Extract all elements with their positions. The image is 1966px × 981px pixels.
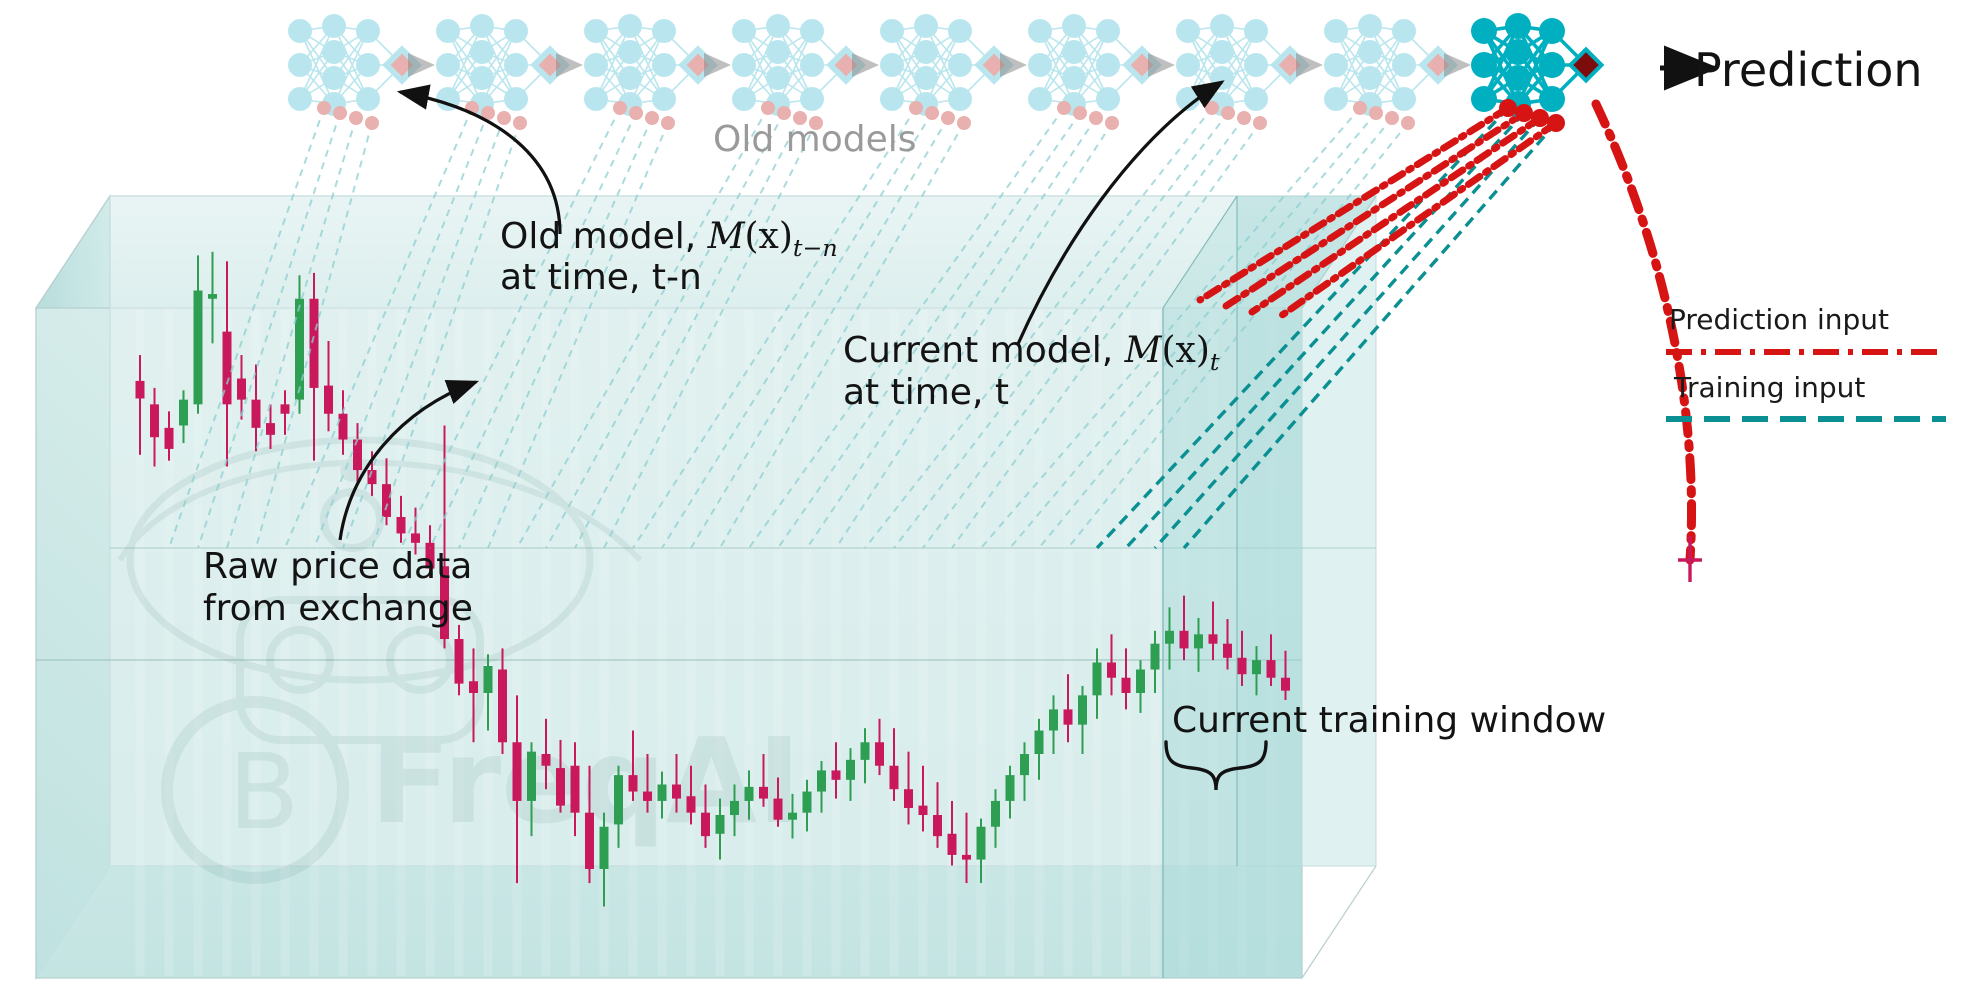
candle-body [643, 792, 652, 801]
old-model-math-x: (x) [745, 216, 793, 257]
candle-body [890, 766, 899, 789]
candle-body [1020, 754, 1029, 775]
current-model-math-sub: t [1210, 348, 1220, 376]
network-node [436, 19, 460, 43]
candle-body [1194, 634, 1203, 648]
candle-body [339, 414, 348, 440]
current-model-annotation-line2: at time, t [843, 372, 1009, 413]
candle-body [701, 813, 710, 836]
candle-body [165, 428, 174, 449]
network-node [1210, 40, 1234, 64]
diagram-canvas: B FreqAI [0, 0, 1966, 981]
candle-body [585, 813, 594, 869]
candle-body [846, 760, 855, 780]
network-node [618, 66, 642, 90]
candle-body [658, 785, 667, 801]
candle-body [745, 787, 754, 801]
candle-body [861, 742, 870, 760]
network-input-node [1205, 101, 1219, 115]
candle-body [1107, 662, 1116, 677]
candle-body [194, 291, 203, 405]
network-node [880, 19, 904, 43]
network-node [1028, 87, 1052, 111]
candle-body [1136, 670, 1145, 693]
old-models-label: Old models [713, 119, 916, 160]
candle-body [310, 299, 319, 388]
raw-price-annotation-line2: from exchange [203, 588, 473, 629]
candle-body [991, 801, 1000, 827]
network-node [1358, 40, 1382, 64]
network-node [1471, 52, 1497, 78]
model-network-old [1028, 14, 1172, 130]
model-network-old [288, 14, 432, 130]
old-model-math-sub: t−n [793, 234, 838, 262]
network-node [322, 14, 346, 38]
network-node [436, 53, 460, 77]
candle-body [875, 742, 884, 765]
candle-body [1122, 678, 1131, 693]
network-node [1505, 13, 1531, 39]
model-network-old [1176, 14, 1320, 130]
candle-body [1180, 631, 1189, 649]
candle-body [1281, 678, 1290, 691]
network-input-node [513, 116, 527, 130]
network-node [1176, 53, 1200, 77]
network-node [1471, 18, 1497, 44]
candle-body [1049, 709, 1058, 730]
candle-body [498, 670, 507, 743]
network-input-node [1221, 106, 1235, 120]
network-node [1471, 86, 1497, 112]
legend-label-prediction-input: Prediction input [1669, 303, 1889, 336]
model-network-old [584, 14, 728, 130]
network-node [800, 53, 824, 77]
candle-body [1078, 695, 1087, 724]
candle-body [1006, 775, 1015, 801]
network-input-node [761, 101, 775, 115]
candle-body [542, 754, 551, 766]
network-input-node [349, 111, 363, 125]
network-node [1244, 87, 1268, 111]
network-node [880, 87, 904, 111]
candle-body [600, 827, 609, 869]
network-node [914, 40, 938, 64]
network-node [1244, 53, 1268, 77]
candle-body [1238, 658, 1247, 674]
network-node [732, 87, 756, 111]
network-input-node [1499, 99, 1517, 117]
network-node [584, 87, 608, 111]
network-input-node [661, 116, 675, 130]
network-node [618, 14, 642, 38]
candle-body [150, 404, 159, 437]
raw-price-annotation-line1: Raw price data [203, 546, 472, 587]
network-node [914, 66, 938, 90]
candle-body [832, 770, 841, 779]
network-input-node [957, 116, 971, 130]
network-node [584, 53, 608, 77]
candle-body [687, 796, 696, 812]
candle-body [817, 770, 826, 791]
network-node [470, 40, 494, 64]
candle-body [266, 423, 275, 435]
network-node [1028, 53, 1052, 77]
network-node [800, 19, 824, 43]
network-input-node [629, 106, 643, 120]
candle-body [136, 381, 145, 399]
box-edge-right-bottom [1302, 866, 1376, 978]
network-node [1505, 39, 1531, 65]
model-network-old [880, 14, 1024, 130]
candle-body [208, 294, 217, 299]
network-node [1096, 19, 1120, 43]
candle-body [237, 379, 246, 400]
network-node [766, 40, 790, 64]
candle-body [252, 400, 261, 428]
network-input-node [1547, 114, 1565, 132]
network-input-node [1531, 109, 1549, 127]
model-network-old [732, 14, 876, 130]
current-model-text: Current model, [843, 330, 1125, 371]
candle-body [1151, 644, 1160, 670]
candle-body [977, 827, 986, 860]
network-node [1392, 53, 1416, 77]
candle-body [1267, 660, 1276, 678]
network-node [1539, 52, 1565, 78]
network-input-node [941, 111, 955, 125]
candle-body [1093, 662, 1102, 695]
network-input-node [317, 101, 331, 115]
candle-body [571, 766, 580, 813]
network-node [1062, 66, 1086, 90]
network-input-node [1105, 116, 1119, 130]
network-node [652, 53, 676, 77]
network-node [470, 66, 494, 90]
network-node [356, 53, 380, 77]
network-input-node [613, 101, 627, 115]
training-window-highlight [1163, 196, 1376, 978]
network-node [1392, 87, 1416, 111]
network-node [1096, 53, 1120, 77]
candle-body [411, 533, 420, 542]
training-window-label: Current training window [1172, 700, 1606, 741]
network-node [1176, 19, 1200, 43]
candle-body [788, 813, 797, 820]
network-input-node [1057, 101, 1071, 115]
network-input-node [333, 106, 347, 120]
network-input-node [645, 111, 659, 125]
old-model-annotation-line2: at time, t-n [500, 257, 702, 298]
network-input-node [1237, 111, 1251, 125]
candle-body [1209, 634, 1218, 643]
svg-text:B: B [228, 731, 299, 853]
candle-body [716, 815, 725, 834]
network-node [584, 19, 608, 43]
model-network-row [288, 13, 1602, 132]
network-node [1358, 66, 1382, 90]
network-node [1062, 40, 1086, 64]
network-node [1324, 87, 1348, 111]
candle-body [774, 799, 783, 820]
candle-body [962, 855, 971, 860]
network-node [1324, 19, 1348, 43]
network-node [732, 53, 756, 77]
candle-body [948, 834, 957, 855]
current-model-annotation-line1: Current model, M(x)t [843, 330, 1219, 376]
prediction-label: Prediction [1694, 43, 1923, 97]
candle-body [803, 792, 812, 813]
network-node [322, 40, 346, 64]
candle-body [382, 484, 391, 517]
candle-body [1252, 660, 1261, 674]
candle-body [455, 639, 464, 684]
network-node [504, 87, 528, 111]
candle-body [759, 787, 768, 799]
candle-body [353, 440, 362, 471]
network-node [504, 53, 528, 77]
network-node [618, 40, 642, 64]
network-node [1539, 86, 1565, 112]
model-network-old [436, 14, 580, 130]
network-node [322, 66, 346, 90]
old-model-math-m: M [708, 216, 745, 257]
network-node [948, 19, 972, 43]
network-node [1392, 19, 1416, 43]
candle-body [281, 404, 290, 413]
network-node [1539, 18, 1565, 44]
network-input-node [1353, 101, 1367, 115]
network-input-node [1369, 106, 1383, 120]
network-node [1062, 14, 1086, 38]
candle-body [730, 801, 739, 815]
network-node [800, 87, 824, 111]
network-node [652, 19, 676, 43]
old-model-annotation-line1: Old model, M(x)t−n [500, 216, 838, 262]
network-input-node [1515, 104, 1533, 122]
candle-body [397, 517, 406, 533]
network-node [356, 19, 380, 43]
network-node [914, 14, 938, 38]
candle-body [672, 785, 681, 799]
network-node [880, 53, 904, 77]
network-input-node [925, 106, 939, 120]
candle-body [179, 400, 188, 426]
network-node [1505, 65, 1531, 91]
diagram-svg: B FreqAI [0, 0, 1966, 981]
old-model-text: Old model, [500, 216, 708, 257]
candle-body [1064, 709, 1073, 724]
network-input-node [1253, 116, 1267, 130]
candle-body [527, 752, 536, 801]
network-node [948, 53, 972, 77]
candle-body [513, 742, 522, 801]
network-node [1028, 19, 1052, 43]
network-node [732, 19, 756, 43]
network-node [1096, 87, 1120, 111]
candle-body [469, 681, 478, 693]
candle-body [904, 789, 913, 808]
candle-body [919, 806, 928, 815]
candle-body [324, 386, 333, 414]
network-node [766, 66, 790, 90]
network-node [1358, 14, 1382, 38]
candle-body [933, 815, 942, 836]
network-node [1244, 19, 1268, 43]
candle-body [295, 299, 304, 400]
network-input-node [497, 111, 511, 125]
candle-body [556, 768, 565, 806]
network-node [1324, 53, 1348, 77]
network-node [288, 53, 312, 77]
candle-body [614, 775, 623, 824]
network-node [504, 19, 528, 43]
network-input-node [365, 116, 379, 130]
network-node [470, 14, 494, 38]
candle-body [1165, 631, 1174, 644]
network-node [288, 19, 312, 43]
legend-label-training-input: Training input [1674, 371, 1865, 404]
network-node [652, 87, 676, 111]
network-input-node [1073, 106, 1087, 120]
candle-body [484, 666, 493, 693]
candle-body [1223, 644, 1232, 658]
network-input-node [777, 106, 791, 120]
current-model-math-m: M [1125, 330, 1162, 371]
network-input-node [909, 101, 923, 115]
network-input-node [1385, 111, 1399, 125]
model-network-current [1471, 13, 1602, 132]
network-node [356, 87, 380, 111]
network-node [288, 87, 312, 111]
network-node [948, 87, 972, 111]
candle-body [629, 775, 638, 791]
candle-body [1035, 731, 1044, 754]
current-model-math-x: (x) [1162, 330, 1210, 371]
network-input-node [1401, 116, 1415, 130]
network-node [1210, 14, 1234, 38]
network-node [766, 14, 790, 38]
model-network-old [1324, 14, 1468, 130]
network-input-node [1089, 111, 1103, 125]
prediction-marker [1678, 536, 1702, 582]
